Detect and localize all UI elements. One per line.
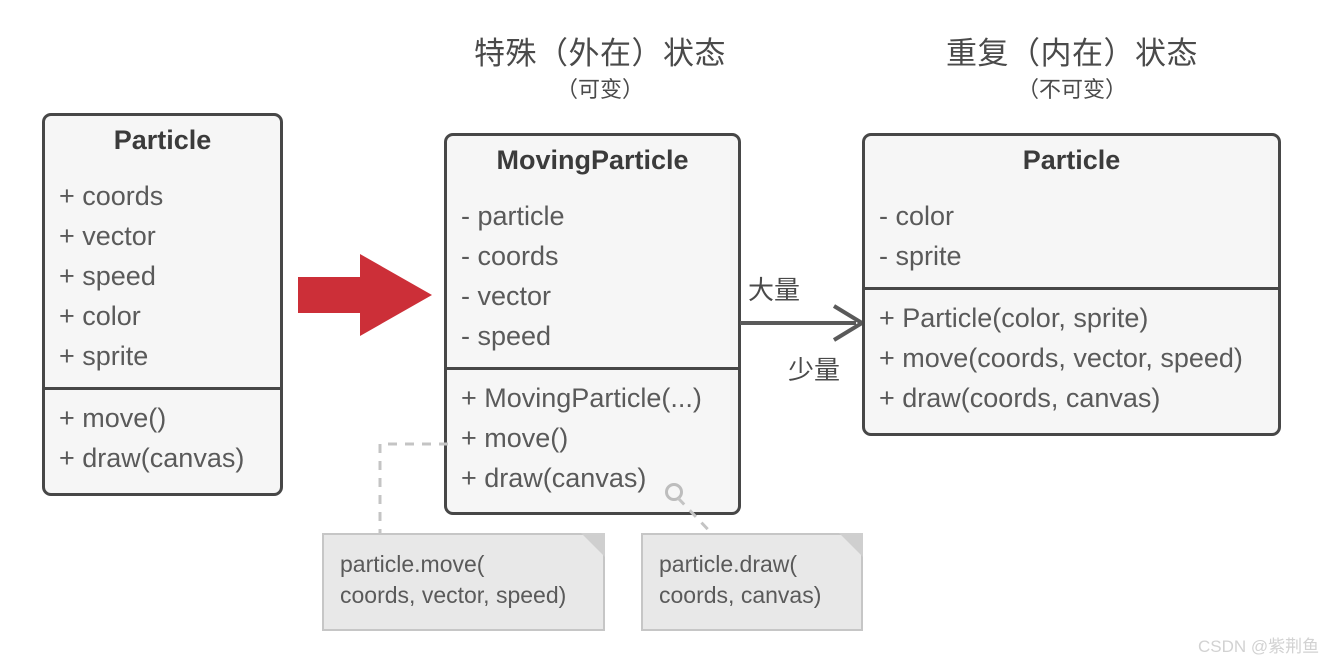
attribute-row: - color [879, 197, 1264, 237]
class-attributes-moving-particle: - particle - coords - vector - speed [447, 188, 738, 367]
class-title-particle-original: Particle [45, 116, 280, 168]
note-fold-corner-icon [839, 533, 863, 557]
association-label-above: 大量 [748, 270, 800, 307]
class-box-particle-original[interactable]: Particle + coords + vector + speed + col… [42, 113, 283, 496]
heading-intrinsic-main: 重复（内在）状态 [892, 36, 1252, 73]
heading-intrinsic-state: 重复（内在）状态 （不可变） [892, 36, 1252, 103]
class-methods-particle-flyweight: + Particle(color, sprite) + move(coords,… [865, 287, 1278, 429]
method-row: + move() [461, 419, 724, 459]
attribute-row: - particle [461, 197, 724, 237]
class-attributes-particle-original: + coords + vector + speed + color + spri… [45, 168, 280, 387]
attribute-row: - coords [461, 237, 724, 277]
association-label-below: 少量 [788, 350, 840, 387]
note-particle-draw: particle.draw( coords, canvas) [641, 533, 863, 631]
note-particle-move: particle.move( coords, vector, speed) [322, 533, 605, 631]
note-fold-corner-icon [581, 533, 605, 557]
method-row: + MovingParticle(...) [461, 379, 724, 419]
watermark-csdn: CSDN @紫荆鱼 [1198, 632, 1319, 657]
heading-extrinsic-sub: （可变） [420, 77, 780, 103]
class-title-moving-particle: MovingParticle [447, 136, 738, 188]
class-box-particle-flyweight[interactable]: Particle - color - sprite + Particle(col… [862, 133, 1281, 436]
heading-intrinsic-sub: （不可变） [892, 77, 1252, 103]
attribute-row: - speed [461, 317, 724, 357]
class-methods-particle-original: + move() + draw(canvas) [45, 387, 280, 489]
attribute-row: - vector [461, 277, 724, 317]
diagram-canvas: 特殊（外在）状态 （可变） 重复（内在）状态 （不可变） Particle + … [0, 0, 1330, 662]
class-attributes-particle-flyweight: - color - sprite [865, 188, 1278, 287]
method-row: + draw(coords, canvas) [879, 379, 1264, 419]
note-line: particle.draw( [659, 549, 845, 580]
attribute-row: + coords [59, 177, 266, 217]
class-box-moving-particle[interactable]: MovingParticle - particle - coords - vec… [444, 133, 741, 515]
class-methods-moving-particle: + MovingParticle(...) + move() + draw(ca… [447, 367, 738, 509]
note-line: coords, canvas) [659, 580, 845, 611]
method-row: + draw(canvas) [59, 439, 266, 479]
red-transform-arrow [298, 252, 434, 338]
attribute-row: - sprite [879, 237, 1264, 277]
note-line: coords, vector, speed) [340, 580, 587, 611]
heading-extrinsic-state: 特殊（外在）状态 （可变） [420, 36, 780, 103]
heading-extrinsic-main: 特殊（外在）状态 [420, 36, 780, 73]
attribute-row: + vector [59, 217, 266, 257]
class-title-particle-flyweight: Particle [865, 136, 1278, 188]
attribute-row: + color [59, 297, 266, 337]
method-row: + move() [59, 399, 266, 439]
attribute-row: + speed [59, 257, 266, 297]
note-connector-move [372, 438, 452, 543]
method-row: + Particle(color, sprite) [879, 299, 1264, 339]
note-line: particle.move( [340, 549, 587, 580]
method-row: + move(coords, vector, speed) [879, 339, 1264, 379]
attribute-row: + sprite [59, 337, 266, 377]
